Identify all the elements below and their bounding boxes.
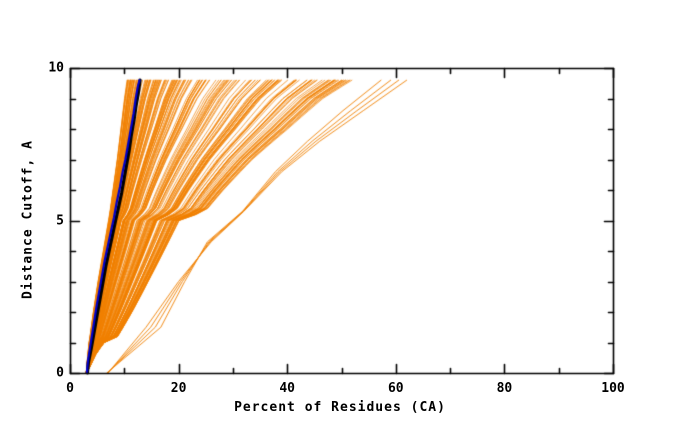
- x-axis-label: Percent of Residues (CA): [0, 400, 680, 415]
- x-tick-label: 80: [497, 381, 513, 396]
- plot-canvas: [0, 0, 680, 440]
- x-tick-label: 100: [601, 381, 624, 396]
- x-tick-label: 20: [171, 381, 187, 396]
- y-tick-label: 0: [36, 366, 64, 381]
- chart-figure: T0963 Distance Cutoff, A Percent of Resi…: [0, 0, 680, 440]
- x-tick-label: 40: [279, 381, 295, 396]
- x-tick-label: 60: [388, 381, 404, 396]
- y-tick-label: 10: [36, 61, 64, 76]
- x-tick-label: 0: [66, 381, 74, 396]
- y-tick-label: 5: [36, 213, 64, 228]
- y-axis-label: Distance Cutoff, A: [21, 100, 36, 340]
